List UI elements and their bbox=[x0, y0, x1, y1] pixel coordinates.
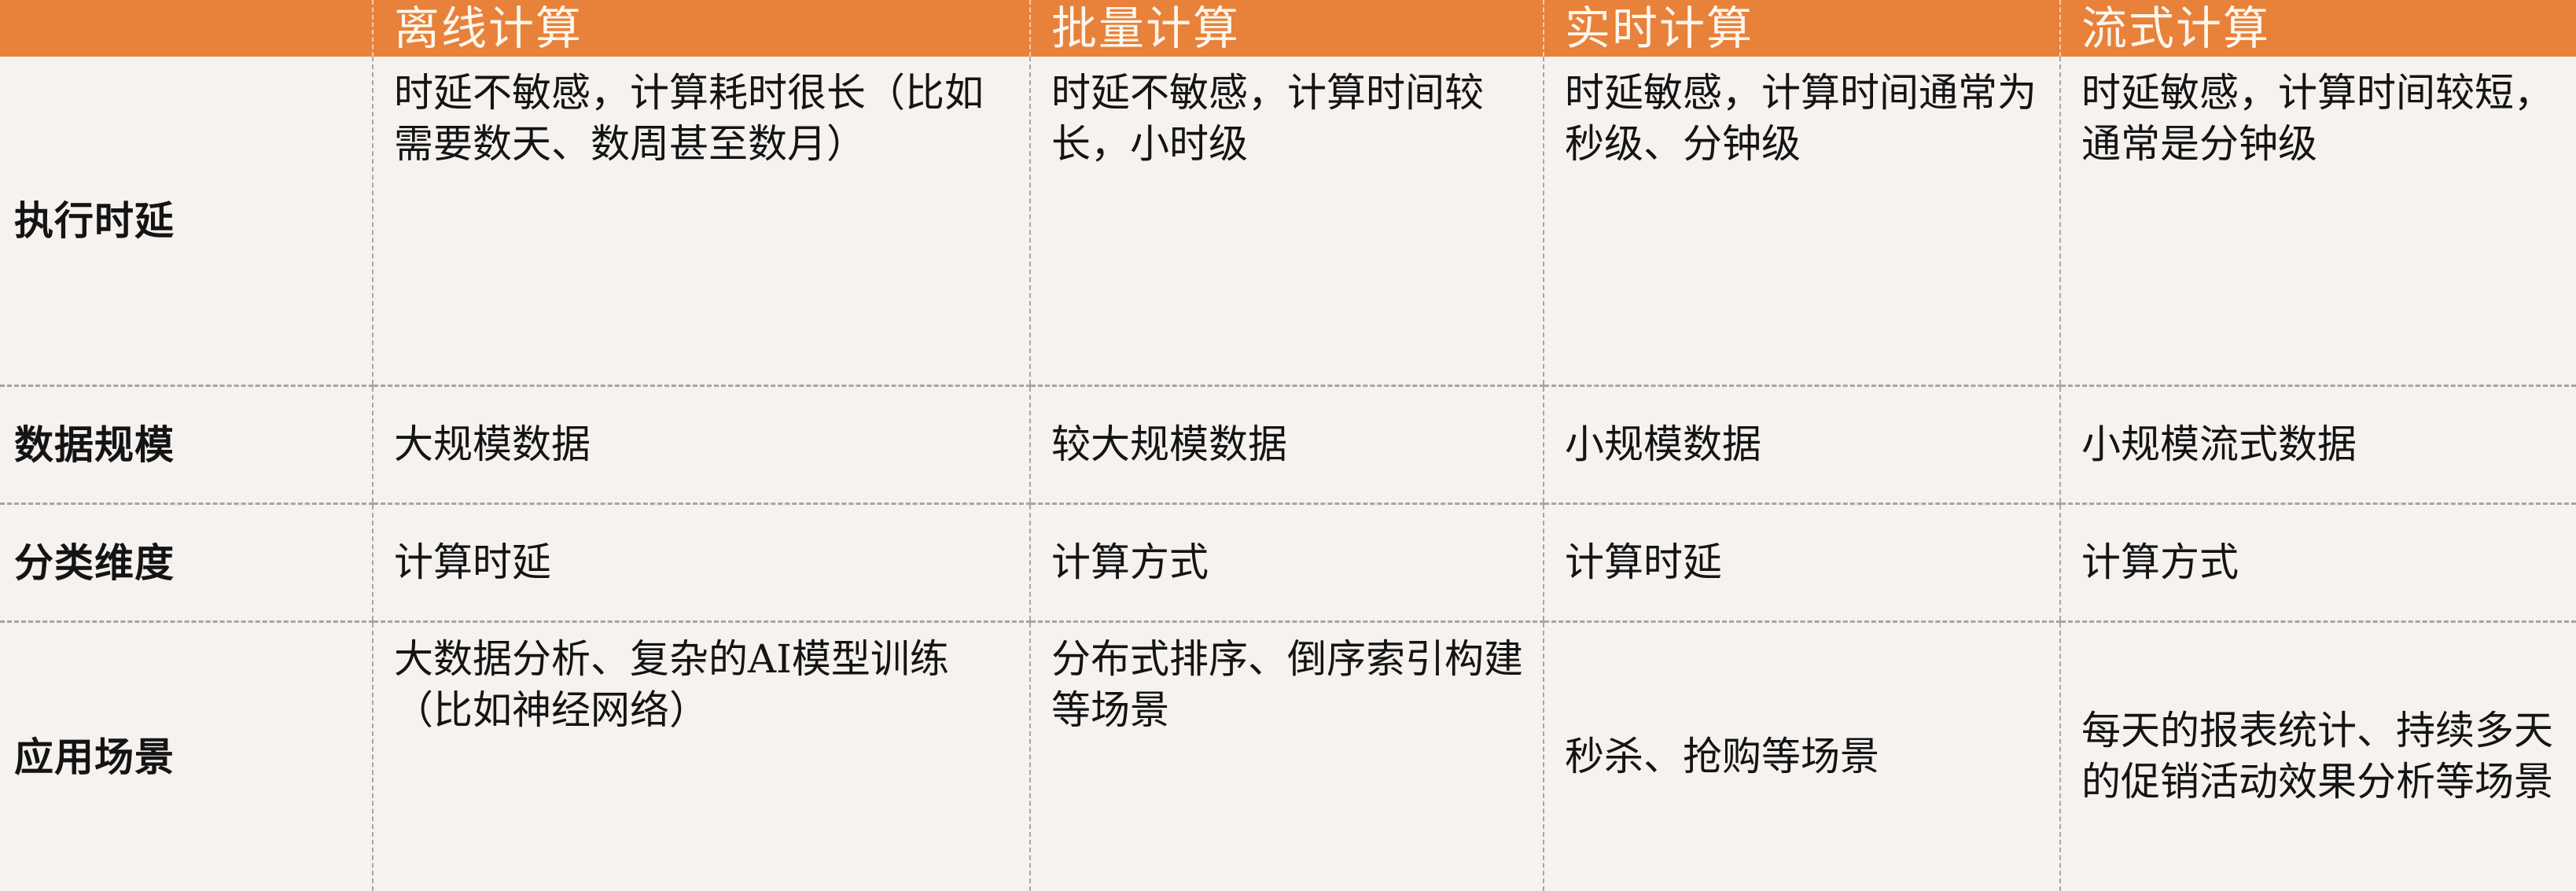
cell-text: 时延不敏感，计算时间较长，小时级 bbox=[1051, 68, 1525, 170]
cell-execution-latency-stream: 时延敏感，计算时间较短，通常是分钟级 bbox=[2060, 57, 2576, 385]
cell-text: 计算方式 bbox=[1051, 537, 1525, 588]
cell-execution-latency-batch: 时延不敏感，计算时间较长，小时级 bbox=[1030, 57, 1544, 385]
row-label-execution-latency: 执行时延 bbox=[0, 57, 373, 385]
table-row: 数据规模 大规模数据 较大规模数据 小规模数据 小规模流式数据 bbox=[0, 385, 2576, 503]
cell-text: 大规模数据 bbox=[394, 419, 1012, 470]
column-header-batch-computing: 批量计算 bbox=[1030, 0, 1544, 57]
column-header-realtime-computing: 实时计算 bbox=[1544, 0, 2060, 57]
cell-application-scenario-batch: 分布式排序、倒序索引构建等场景 bbox=[1030, 621, 1544, 891]
cell-execution-latency-realtime: 时延敏感，计算时间通常为秒级、分钟级 bbox=[1544, 57, 2060, 385]
cell-text: 较大规模数据 bbox=[1051, 419, 1525, 470]
cell-text: 大数据分析、复杂的AI模型训练（比如神经网络） bbox=[394, 634, 1012, 736]
cell-classification-dimension-batch: 计算方式 bbox=[1030, 503, 1544, 621]
table-row: 应用场景 大数据分析、复杂的AI模型训练（比如神经网络） 分布式排序、倒序索引构… bbox=[0, 621, 2576, 891]
cell-text: 计算方式 bbox=[2081, 537, 2559, 588]
cell-text: 时延敏感，计算时间通常为秒级、分钟级 bbox=[1565, 68, 2042, 170]
cell-text: 每天的报表统计、持续多天的促销活动效果分析等场景 bbox=[2081, 705, 2559, 808]
column-header-stream-computing: 流式计算 bbox=[2060, 0, 2576, 57]
cell-text: 分布式排序、倒序索引构建等场景 bbox=[1051, 634, 1525, 736]
computing-type-comparison-table: 离线计算 批量计算 实时计算 流式计算 执行时延 时延不敏感，计算耗时很长（比如… bbox=[0, 0, 2576, 891]
cell-data-scale-batch: 较大规模数据 bbox=[1030, 385, 1544, 503]
header-corner-cell bbox=[0, 0, 373, 57]
cell-data-scale-stream: 小规模流式数据 bbox=[2060, 385, 2576, 503]
cell-classification-dimension-offline: 计算时延 bbox=[373, 503, 1030, 621]
cell-data-scale-realtime: 小规模数据 bbox=[1544, 385, 2060, 503]
cell-text: 计算时延 bbox=[1565, 537, 2042, 588]
cell-text: 时延不敏感，计算耗时很长（比如需要数天、数周甚至数月） bbox=[394, 68, 1012, 170]
table-header: 离线计算 批量计算 实时计算 流式计算 bbox=[0, 0, 2576, 57]
cell-text: 秒杀、抢购等场景 bbox=[1565, 731, 2042, 782]
cell-text: 小规模流式数据 bbox=[2081, 419, 2559, 470]
cell-classification-dimension-stream: 计算方式 bbox=[2060, 503, 2576, 621]
table-row: 执行时延 时延不敏感，计算耗时很长（比如需要数天、数周甚至数月） 时延不敏感，计… bbox=[0, 57, 2576, 385]
row-label-application-scenario: 应用场景 bbox=[0, 621, 373, 891]
table-body: 执行时延 时延不敏感，计算耗时很长（比如需要数天、数周甚至数月） 时延不敏感，计… bbox=[0, 57, 2576, 891]
cell-execution-latency-offline: 时延不敏感，计算耗时很长（比如需要数天、数周甚至数月） bbox=[373, 57, 1030, 385]
cell-application-scenario-stream: 每天的报表统计、持续多天的促销活动效果分析等场景 bbox=[2060, 621, 2576, 891]
header-row: 离线计算 批量计算 实时计算 流式计算 bbox=[0, 0, 2576, 57]
cell-data-scale-offline: 大规模数据 bbox=[373, 385, 1030, 503]
cell-classification-dimension-realtime: 计算时延 bbox=[1544, 503, 2060, 621]
cell-text: 时延敏感，计算时间较短，通常是分钟级 bbox=[2081, 68, 2559, 170]
cell-application-scenario-realtime: 秒杀、抢购等场景 bbox=[1544, 621, 2060, 891]
cell-application-scenario-offline: 大数据分析、复杂的AI模型训练（比如神经网络） bbox=[373, 621, 1030, 891]
column-header-offline-computing: 离线计算 bbox=[373, 0, 1030, 57]
table-row: 分类维度 计算时延 计算方式 计算时延 计算方式 bbox=[0, 503, 2576, 621]
row-label-data-scale: 数据规模 bbox=[0, 385, 373, 503]
cell-text: 计算时延 bbox=[394, 537, 1012, 588]
row-label-classification-dimension: 分类维度 bbox=[0, 503, 373, 621]
cell-text: 小规模数据 bbox=[1565, 419, 2042, 470]
